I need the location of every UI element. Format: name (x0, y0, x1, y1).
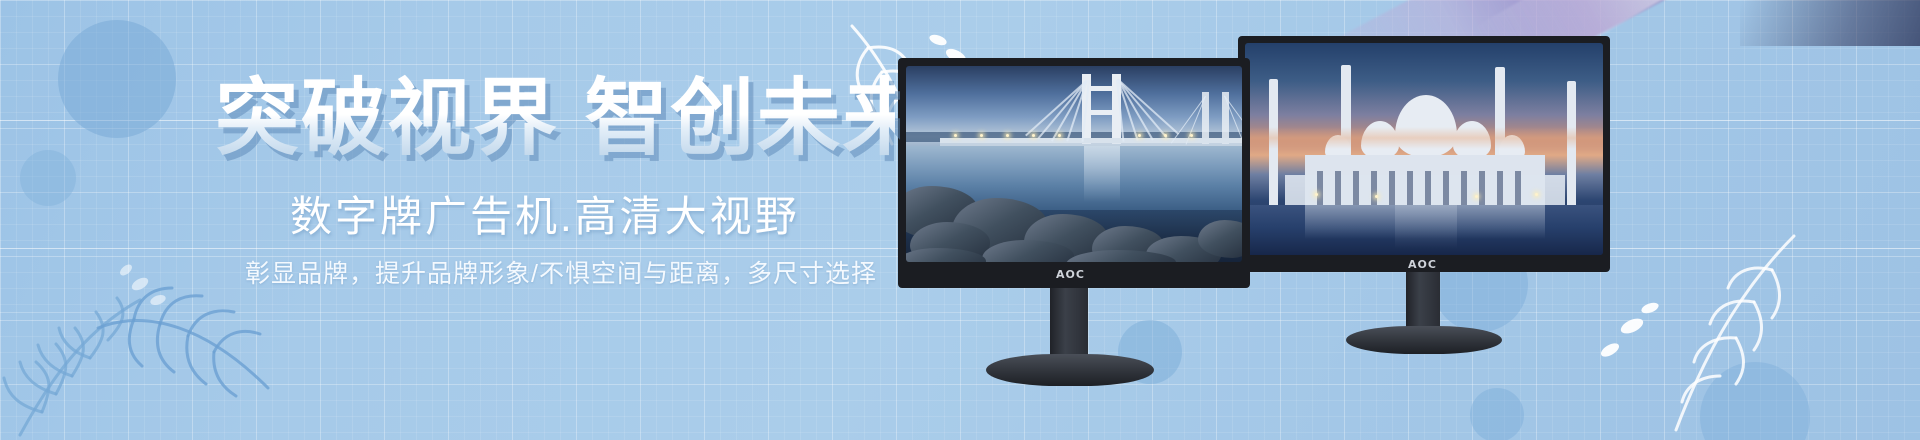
circle-decoration-icon (1470, 388, 1524, 440)
brand-logo: AOC (1056, 268, 1085, 281)
leaf-frond-icon (1580, 230, 1810, 440)
promo-banner: AOC (0, 0, 1920, 440)
subheadline: 数字牌广告机.高清大视野 (290, 192, 800, 242)
brand-logo-secondary: AOC (1408, 258, 1437, 271)
tagline: 彰显品牌，提升品牌形象/不惧空间与距离，多尺寸选择 (245, 258, 877, 290)
page-title: 突破视界 智创未来 (215, 72, 895, 164)
text-block: 突破视界 智创未来 数字牌广告机.高清大视野 彰显品牌，提升品牌形象/不惧空间与… (0, 0, 900, 440)
corner-shade (1740, 0, 1920, 46)
